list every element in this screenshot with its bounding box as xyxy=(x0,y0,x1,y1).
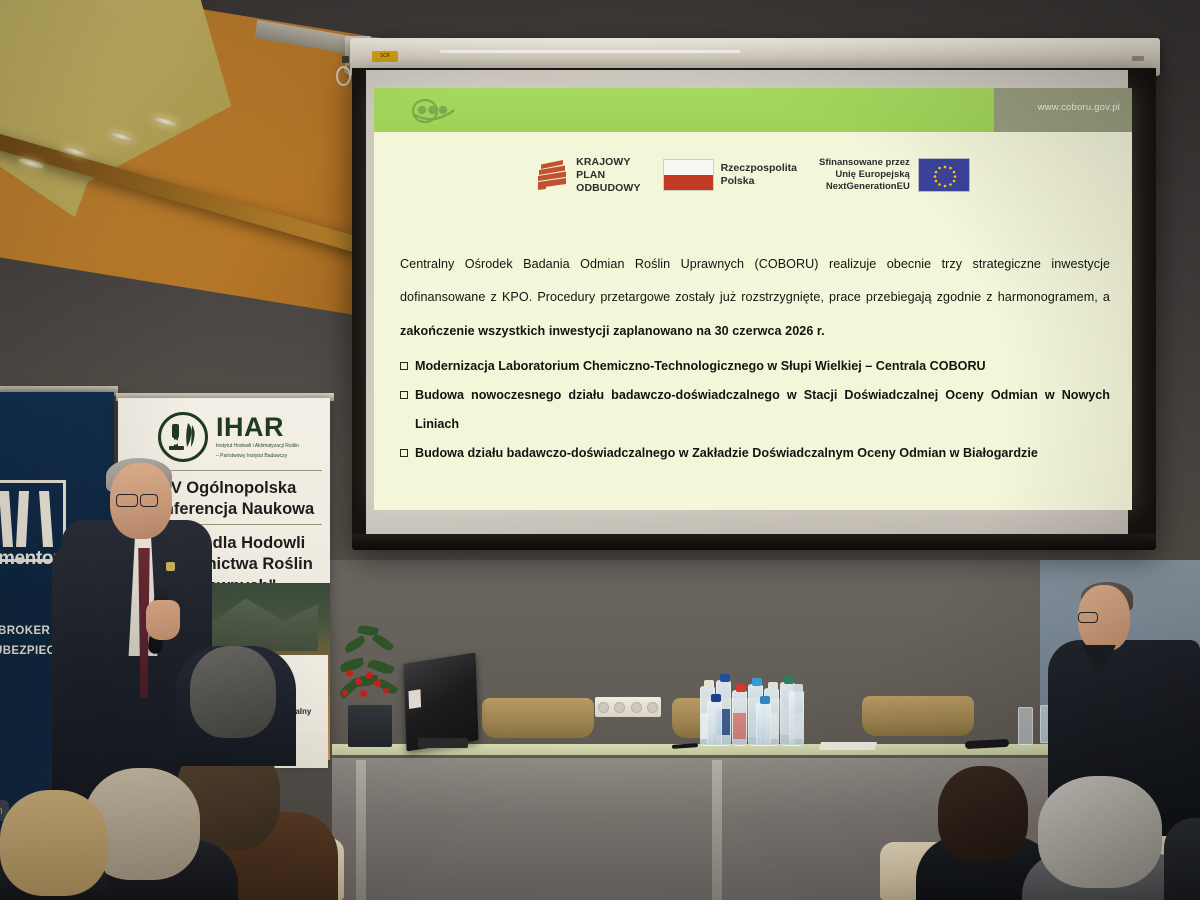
desk-monitor[interactable] xyxy=(403,653,478,752)
housing-endcap xyxy=(1132,56,1144,61)
list-item: Modernizacja Laboratorium Chemiczno-Tech… xyxy=(400,352,1110,381)
water-bottle[interactable] xyxy=(732,690,747,746)
bullet-text: Budowa działu badawczo-doświadczalnego w… xyxy=(415,439,1110,468)
flag-stripe-red xyxy=(664,175,713,190)
paragraph-plain: Centralny Ośrodek Badania Odmian Roślin … xyxy=(400,257,1110,304)
bottle-label xyxy=(733,713,746,739)
eu-funding-logo: Sfinansowane przez Unię Europejską NextG… xyxy=(819,157,970,193)
mentor-broker-label: BROKER xyxy=(0,625,50,637)
audience-head xyxy=(938,766,1028,862)
flag-stripe-white xyxy=(664,160,713,175)
checkbox-bullet-icon xyxy=(400,362,408,370)
ihar-subtitle-2: – Państwowy Instytut Badawczy xyxy=(216,453,299,461)
desk-chair xyxy=(482,698,594,738)
bottle-cap xyxy=(768,682,778,690)
housing-knob xyxy=(342,56,349,63)
desk-leg xyxy=(712,760,722,900)
polish-flag-icon xyxy=(663,159,714,191)
socket-outlet[interactable] xyxy=(614,702,625,713)
eu-line-3: NextGenerationEU xyxy=(819,181,910,193)
berry xyxy=(360,690,367,697)
audience-head xyxy=(190,646,276,738)
poland-line-2: Polska xyxy=(721,175,797,188)
slide-paragraph: Centralny Ośrodek Badania Odmian Roślin … xyxy=(400,248,1110,348)
slide-website-url: www.coboru.gov.pl xyxy=(1038,102,1120,113)
desk-chair xyxy=(862,696,974,736)
paragraph-bold: zakończenie wszystkich inwestycji zaplan… xyxy=(400,324,825,338)
mentor-w-icon xyxy=(0,489,61,549)
kpo-label: KRAJOWY PLAN ODBUDOWY xyxy=(576,156,640,194)
bottle-label xyxy=(790,713,803,739)
bottle-cap xyxy=(793,684,803,692)
kpo-line-2: PLAN xyxy=(576,169,640,182)
eu-flag-icon xyxy=(918,158,970,192)
bottle-cap xyxy=(760,696,770,704)
housing-brand-label: SCR xyxy=(372,51,398,62)
bullet-text: Modernizacja Laboratorium Chemiczno-Tech… xyxy=(415,352,1110,381)
ihar-subtitle-1: Instytut Hodowli i Aklimatyzacji Roślin xyxy=(216,443,299,451)
audience-member xyxy=(1164,818,1200,900)
speaker-lapel-pin xyxy=(166,562,175,571)
kpo-line-3: ODBUDOWY xyxy=(576,182,640,195)
list-item: Budowa działu badawczo-doświadczalnego w… xyxy=(400,439,1110,468)
kpo-logo: KRAJOWY PLAN ODBUDOWY xyxy=(536,156,640,194)
potted-plant-foliage xyxy=(338,622,404,712)
screen-bottom-bar xyxy=(352,534,1156,550)
poland-line-1: Rzeczpospolita xyxy=(721,162,797,175)
bottle-cap xyxy=(736,684,746,692)
water-bottle[interactable] xyxy=(707,700,722,746)
berry xyxy=(342,690,348,696)
speaker-glasses-icon xyxy=(140,494,158,507)
socket-outlet[interactable] xyxy=(631,702,642,713)
eu-line-2: Unię Europejską xyxy=(819,169,910,181)
checkbox-bullet-icon xyxy=(400,449,408,457)
power-socket-strip[interactable] xyxy=(595,697,661,717)
ihar-text-block: IHAR Instytut Hodowli i Aklimatyzacji Ro… xyxy=(216,414,299,460)
bullet-text: Budowa nowoczesnego działu badawczo-dośw… xyxy=(415,381,1110,439)
desk-leg xyxy=(356,760,366,900)
mentor-brand-label: mentor xyxy=(0,548,60,570)
speaker-glasses-icon xyxy=(116,494,138,507)
berry xyxy=(346,670,353,677)
berry xyxy=(366,672,373,679)
socket-outlet[interactable] xyxy=(598,702,609,713)
plant-pot xyxy=(348,705,392,747)
bottle-cap xyxy=(720,674,730,682)
kpo-building-icon xyxy=(536,158,568,192)
leaf xyxy=(343,635,367,653)
poland-label: Rzeczpospolita Polska xyxy=(721,162,797,188)
berry xyxy=(383,688,389,694)
funding-logos-row: KRAJOWY PLAN ODBUDOWY Rzeczpospolita Pol… xyxy=(374,156,1132,194)
eu-line-1: Sfinansowane przez xyxy=(819,157,910,169)
audience-head xyxy=(1038,776,1162,888)
bottle-cap xyxy=(704,680,714,688)
coboru-logo xyxy=(407,98,463,124)
poland-logo: Rzeczpospolita Polska xyxy=(663,159,797,191)
slide-bullet-list: Modernizacja Laboratorium Chemiczno-Tech… xyxy=(400,352,1110,468)
bottle-cap xyxy=(711,694,721,702)
drinking-glass[interactable] xyxy=(1018,707,1033,745)
panelist-glasses-icon xyxy=(1078,612,1098,623)
kpo-line-1: KRAJOWY xyxy=(576,156,640,169)
ihar-logo-row: IHAR Instytut Hodowli i Aklimatyzacji Ro… xyxy=(158,412,299,462)
berry xyxy=(374,680,381,687)
ihar-acronym: IHAR xyxy=(216,414,299,441)
bottle-cap xyxy=(784,676,794,684)
slide-body: Centralny Ośrodek Badania Odmian Roślin … xyxy=(400,248,1110,468)
checkbox-bullet-icon xyxy=(400,391,408,399)
bottle-cap xyxy=(752,678,762,686)
monitor-stand xyxy=(418,738,468,748)
conference-photo-scene: SCR www.coboru.gov.pl xyxy=(0,0,1200,900)
eu-label: Sfinansowane przez Unię Europejską NextG… xyxy=(819,157,910,193)
water-bottle[interactable] xyxy=(756,702,771,746)
socket-outlet[interactable] xyxy=(647,702,658,713)
housing-highlight xyxy=(440,50,740,53)
ihar-emblem-icon xyxy=(158,412,208,462)
speaker-hand xyxy=(146,600,180,640)
water-bottle[interactable] xyxy=(789,690,804,746)
list-item: Budowa nowoczesnego działu badawczo-dośw… xyxy=(400,381,1110,439)
audience-head xyxy=(0,790,108,896)
leaf xyxy=(372,632,395,653)
screen-pull-ring-icon[interactable] xyxy=(336,66,351,86)
monitor-sticker xyxy=(408,689,421,709)
paper-sheet[interactable] xyxy=(819,742,877,750)
berry xyxy=(355,678,362,685)
presentation-slide: www.coboru.gov.pl KRA xyxy=(374,88,1132,510)
